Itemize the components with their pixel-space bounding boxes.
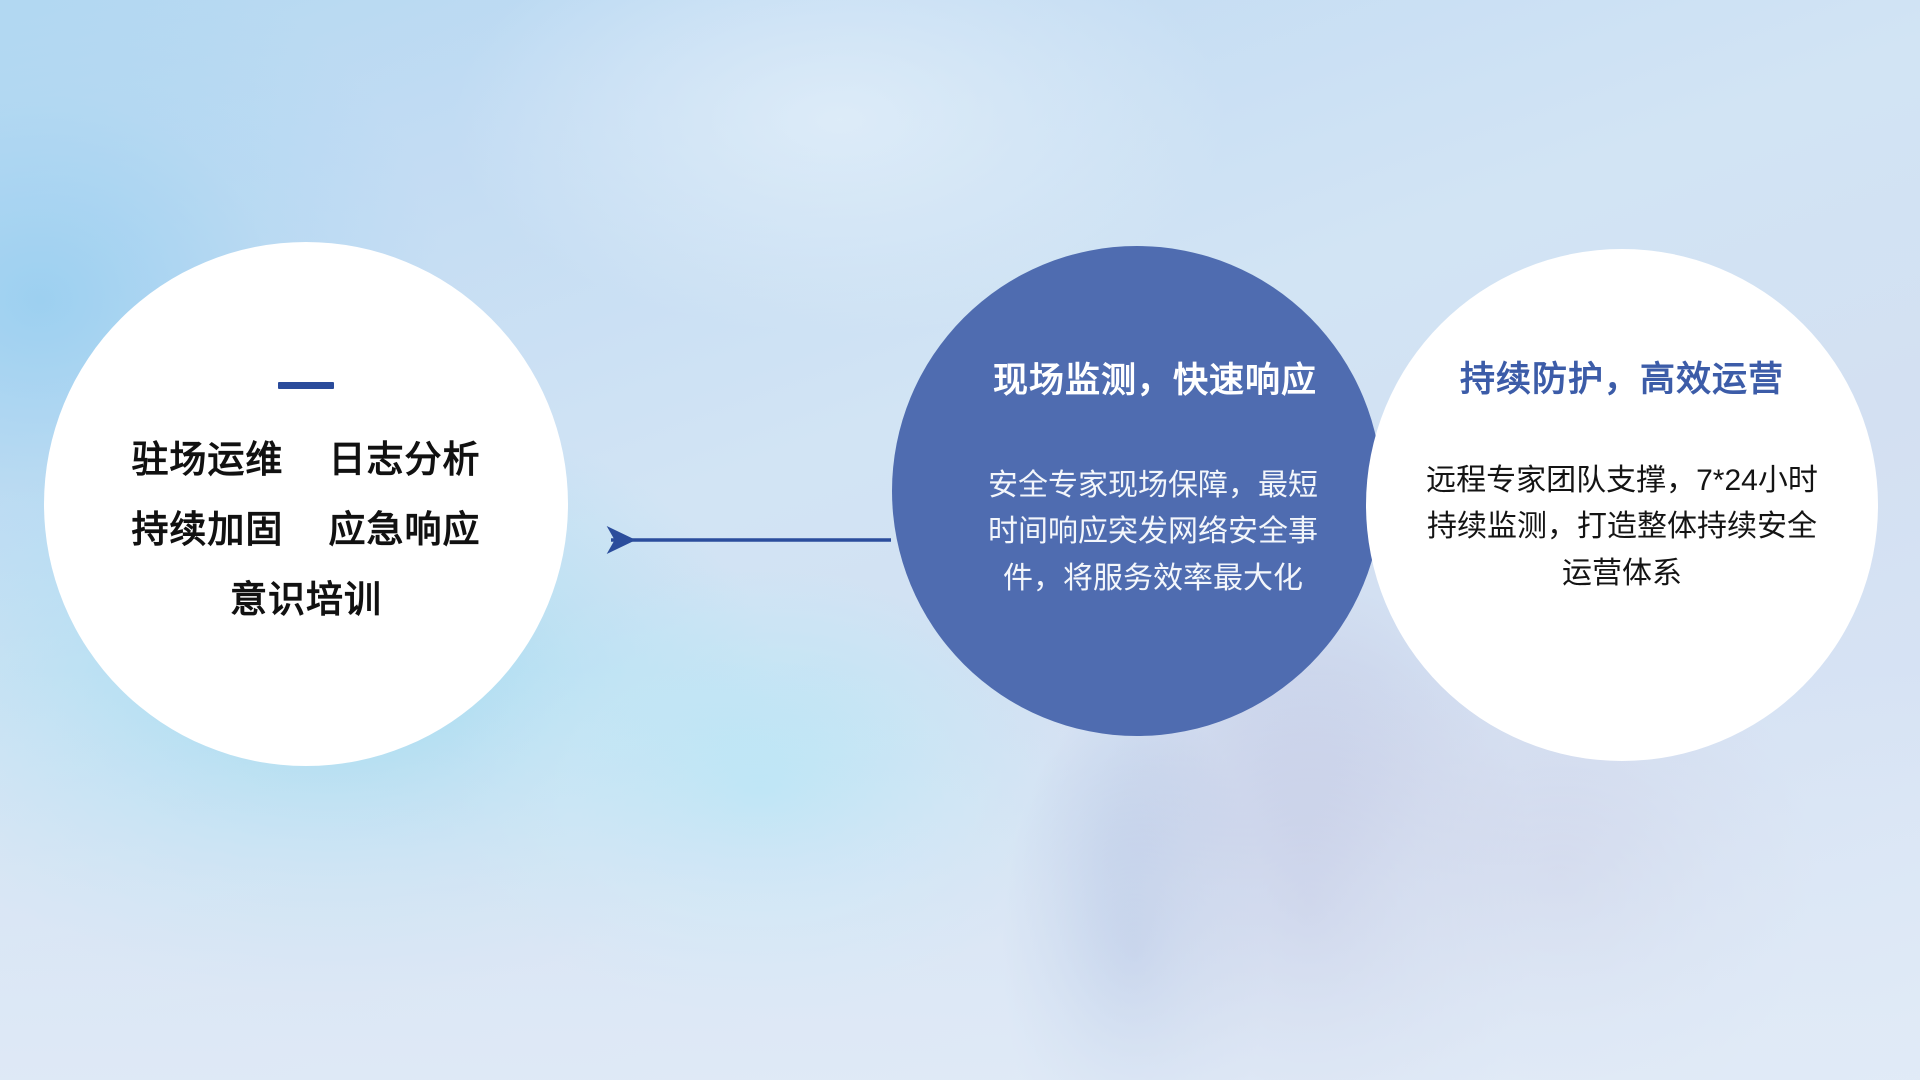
- left-circle-content: 驻场运维 日志分析 持续加固 应急响应 意识培训: [44, 242, 568, 766]
- diagram-canvas: 驻场运维 日志分析 持续加固 应急响应 意识培训 现场监测，快速响应 安全专家现…: [0, 0, 1920, 1080]
- right-circle-body: 远程专家团队支撑，7*24小时持续监测，打造整体持续安全运营体系: [1417, 458, 1827, 598]
- left-keyword-row-2: 持续加固 应急响应: [131, 511, 480, 548]
- left-divider-dash: [278, 382, 334, 389]
- right-circle-title: 持续防护，高效运营: [1460, 361, 1784, 400]
- middle-circle-body: 安全专家现场保障，最短时间响应突发网络安全事件，将服务效率最大化: [988, 463, 1318, 603]
- flow-arrow-left-icon: [595, 512, 895, 568]
- middle-circle-content: 现场监测，快速响应 安全专家现场保障，最短时间响应突发网络安全事件，将服务效率最…: [892, 246, 1382, 736]
- left-keyword-row-1: 驻场运维 日志分析: [131, 441, 480, 478]
- middle-circle-title: 现场监测，快速响应: [993, 362, 1317, 401]
- left-keyword-row-3: 意识培训: [230, 581, 382, 618]
- right-circle-content: 持续防护，高效运营 远程专家团队支撑，7*24小时持续监测，打造整体持续安全运营…: [1366, 249, 1878, 761]
